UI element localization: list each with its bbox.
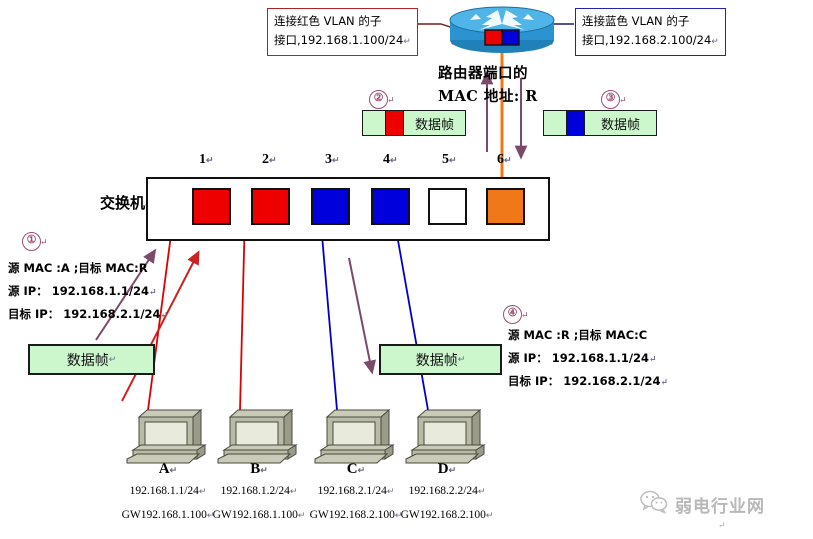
host-gw-text: GW192.168.1.100 — [122, 509, 207, 521]
pilcrow-mark: ↵ — [661, 377, 669, 387]
diagram-canvas: 连接红色 VLAN 的子 接口,192.168.1.100/24↵ 连接蓝色 V… — [0, 0, 813, 539]
frame-box-left: 数据帧↵ — [28, 344, 155, 375]
frame-chip-pad — [544, 111, 566, 135]
port-num-text: 4 — [383, 152, 390, 167]
callout-blue-line1: 连接蓝色 VLAN 的子 — [582, 14, 689, 28]
switch-port-3[interactable] — [311, 188, 350, 225]
pilcrow-mark: ↵ — [40, 237, 48, 248]
port-num-text: 2 — [262, 152, 269, 167]
step-number-4: ④ — [503, 305, 522, 324]
port-num-text: 6 — [497, 152, 504, 167]
watermark: 弱电行业网 — [640, 490, 765, 519]
switch-port-number-3: 3↵ — [325, 152, 340, 168]
callout-red-line1: 连接红色 VLAN 的子 — [274, 14, 381, 28]
switch-port-6[interactable] — [486, 188, 525, 225]
frame-chip-blue-label: 数据帧 — [585, 111, 656, 135]
link-port2-hostB — [240, 212, 245, 410]
pilcrow-mark: ↵ — [358, 465, 366, 475]
host-label-B: B↵ — [216, 461, 302, 478]
switch-port-number-2: 2↵ — [262, 152, 277, 168]
callout-red-vlan: 连接红色 VLAN 的子 接口,192.168.1.100/24↵ — [267, 8, 418, 56]
pilcrow-mark: ↵ — [486, 510, 494, 520]
pilcrow-mark: ↵ — [449, 155, 457, 165]
pilcrow-mark: ↵ — [387, 95, 395, 106]
frame-chip-blue: 数据帧 — [543, 110, 657, 136]
switch-label-text: 交换机 — [100, 194, 145, 212]
port-num-text: 3 — [325, 152, 332, 167]
pilcrow-mark: ↵ — [269, 155, 277, 165]
annotation-1-line-3: 目标 IP： 192.168.2.1/24↵ — [8, 304, 168, 327]
pilcrow-mark: ↵ — [649, 354, 657, 364]
pilcrow-mark: ↵ — [149, 287, 157, 297]
callout-blue-line2: 接口,192.168.2.100/24 — [582, 33, 711, 47]
step-number-1: ① — [22, 232, 41, 251]
frame-chip-red: 数据帧 — [362, 110, 466, 136]
arrow-down-to-frame-right — [349, 258, 371, 367]
frame-box-right: 数据帧↵ — [379, 344, 502, 375]
annotation-4-block: 源 MAC :R ;目标 MAC:C 源 IP： 192.168.1.1/24↵… — [508, 325, 668, 394]
switch-port-5[interactable] — [428, 188, 467, 225]
pilcrow-mark: ↵ — [521, 310, 529, 321]
switch-port-number-6: 6↵ — [497, 152, 512, 168]
frame-chip-vlan-tag-blue — [566, 111, 585, 135]
annotation-1-line-1: 源 MAC :A ;目标 MAC:R — [8, 258, 168, 281]
pilcrow-mark: ↵ — [161, 310, 169, 320]
switch-port-number-4: 4↵ — [383, 152, 398, 168]
host-label-D: D↵ — [404, 461, 490, 478]
pilcrow-mark: ↵ — [478, 486, 486, 496]
step-number-3: ③ — [601, 90, 620, 109]
router-title-line1: 路由器端口的 — [438, 62, 528, 83]
router-title-line2: MAC 地址: R — [438, 85, 538, 106]
frame-chip-vlan-tag-red — [385, 111, 404, 135]
frame-chip-red-label: 数据帧 — [404, 111, 465, 135]
switch-port-number-5: 5↵ — [442, 152, 457, 168]
pilcrow-mark: ↵ — [332, 155, 340, 165]
host-gw-text: GW192.168.1.100 — [213, 509, 298, 521]
host-name-text: A — [159, 461, 170, 477]
host-gw-text: GW192.168.2.100 — [401, 509, 486, 521]
host-ip-text: 192.168.2.1/24 — [318, 485, 387, 497]
switch-port-2[interactable] — [251, 188, 290, 225]
pilcrow-mark: ↵ — [449, 465, 457, 475]
callout-red-line2: 接口,192.168.1.100/24 — [274, 33, 403, 47]
pilcrow-mark: ↵ — [718, 520, 726, 531]
port-num-text: 1 — [199, 152, 206, 167]
pilcrow-mark: ↵ — [458, 355, 466, 365]
link-port4-hostD — [393, 212, 428, 410]
callout-blue-vlan: 连接蓝色 VLAN 的子 接口,192.168.2.100/24↵ — [575, 8, 726, 56]
pilcrow-mark: ↵ — [109, 355, 117, 365]
host-ip-text: 192.168.1.1/24 — [130, 485, 199, 497]
host-name-text: C — [347, 461, 358, 477]
host-name-text: B — [250, 461, 260, 477]
switch-port-4[interactable] — [371, 188, 410, 225]
frame-box-left-label: 数据帧 — [67, 350, 109, 370]
host-gw-text: GW192.168.2.100 — [310, 509, 395, 521]
pilcrow-mark: ↵ — [403, 36, 411, 46]
host-label-A: A↵ — [125, 461, 211, 478]
annotation-4-line-3: 目标 IP： 192.168.2.1/24↵ — [508, 371, 668, 394]
annotation-1-line-2: 源 IP： 192.168.1.1/24↵ — [8, 281, 168, 304]
host-name-text: D — [438, 461, 449, 477]
router-icon — [446, 4, 558, 58]
pilcrow-mark: ↵ — [504, 155, 512, 165]
host-label-C: C↵ — [313, 461, 399, 478]
switch-label: 交换机↵ — [100, 192, 153, 213]
link-port3-hostC — [320, 212, 337, 410]
step-number-2: ② — [369, 90, 388, 109]
annotation-1-block: 源 MAC :A ;目标 MAC:R 源 IP： 192.168.1.1/24↵… — [8, 258, 168, 327]
annotation-4-line-1: 源 MAC :R ;目标 MAC:C — [508, 325, 668, 348]
pilcrow-mark: ↵ — [390, 155, 398, 165]
host-gateway-D: GW192.168.2.100↵ — [387, 509, 507, 521]
port-num-text: 5 — [442, 152, 449, 167]
host-ip-text: 192.168.2.2/24 — [409, 485, 478, 497]
host-ip-text: 192.168.1.2/24 — [221, 485, 290, 497]
pilcrow-mark: ↵ — [711, 36, 719, 46]
pilcrow-mark: ↵ — [290, 486, 298, 496]
pilcrow-mark: ↵ — [260, 465, 268, 475]
switch-port-1[interactable] — [192, 188, 231, 225]
watermark-text: 弱电行业网 — [675, 492, 765, 517]
host-ip-D: 192.168.2.2/24↵ — [392, 485, 502, 497]
annotation-4-line-2: 源 IP： 192.168.1.1/24↵ — [508, 348, 668, 371]
pilcrow-mark: ↵ — [206, 155, 214, 165]
host-ip-B: 192.168.1.2/24↵ — [204, 485, 314, 497]
frame-box-right-label: 数据帧 — [416, 350, 458, 370]
pilcrow-mark: ↵ — [619, 95, 627, 106]
pilcrow-mark: ↵ — [170, 465, 178, 475]
switch-port-number-1: 1↵ — [199, 152, 214, 168]
frame-chip-pad — [363, 111, 385, 135]
wechat-icon — [640, 490, 668, 519]
